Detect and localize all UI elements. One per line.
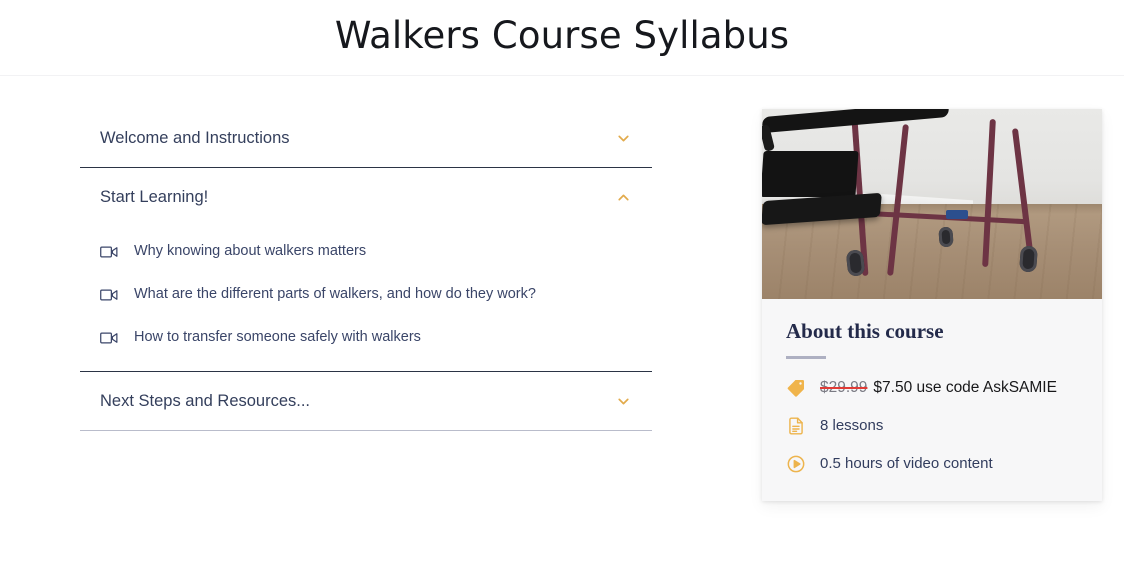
course-video-hours-row: 0.5 hours of video content bbox=[786, 453, 1078, 475]
accordion-header-next-steps[interactable]: Next Steps and Resources... bbox=[80, 372, 652, 430]
page-body: Welcome and Instructions Start Learning! bbox=[0, 76, 1124, 501]
card-heading: About this course bbox=[786, 321, 1078, 342]
list-item[interactable]: Why knowing about walkers matters bbox=[80, 230, 652, 273]
course-card-column: About this course $29.99$7.50 use code A… bbox=[762, 109, 1102, 501]
course-thumbnail-image bbox=[762, 109, 1102, 299]
course-card: About this course $29.99$7.50 use code A… bbox=[762, 109, 1102, 501]
document-icon bbox=[786, 416, 820, 436]
accordion-section-welcome: Welcome and Instructions bbox=[80, 109, 652, 168]
accordion-divider bbox=[80, 430, 652, 431]
heading-accent-rule bbox=[786, 356, 826, 359]
accordion-panel-start-learning: Why knowing about walkers matters What a… bbox=[80, 226, 652, 371]
lesson-label: What are the different parts of walkers,… bbox=[134, 287, 536, 302]
course-card-body: About this course $29.99$7.50 use code A… bbox=[762, 299, 1102, 501]
chevron-down-icon[interactable] bbox=[615, 393, 632, 410]
accordion-title: Welcome and Instructions bbox=[100, 130, 290, 147]
accordion-section-next-steps: Next Steps and Resources... bbox=[80, 372, 652, 431]
course-price-row: $29.99$7.50 use code AskSAMIE bbox=[786, 377, 1078, 399]
page-header: Walkers Course Syllabus bbox=[0, 0, 1124, 76]
accordion-title: Start Learning! bbox=[100, 189, 208, 206]
lessons-count: 8 lessons bbox=[820, 417, 883, 435]
video-camera-icon bbox=[100, 331, 134, 345]
syllabus-column: Welcome and Instructions Start Learning! bbox=[80, 109, 735, 431]
original-price: $29.99 bbox=[820, 379, 867, 396]
discounted-price: $7.50 use code AskSAMIE bbox=[873, 379, 1057, 396]
accordion-header-welcome[interactable]: Welcome and Instructions bbox=[80, 109, 652, 167]
video-camera-icon bbox=[100, 288, 134, 302]
course-price: $29.99$7.50 use code AskSAMIE bbox=[820, 379, 1057, 398]
price-tag-icon bbox=[786, 378, 820, 398]
accordion-section-start-learning: Start Learning! bbox=[80, 168, 652, 372]
lesson-label: How to transfer someone safely with walk… bbox=[134, 330, 421, 345]
video-camera-icon bbox=[100, 245, 134, 259]
chevron-up-icon[interactable] bbox=[615, 189, 632, 206]
list-item[interactable]: What are the different parts of walkers,… bbox=[80, 273, 652, 316]
lesson-label: Why knowing about walkers matters bbox=[134, 244, 366, 259]
syllabus-accordion: Welcome and Instructions Start Learning! bbox=[80, 109, 652, 431]
play-circle-icon bbox=[786, 454, 820, 474]
chevron-down-icon[interactable] bbox=[615, 130, 632, 147]
video-hours: 0.5 hours of video content bbox=[820, 455, 993, 473]
course-lessons-row: 8 lessons bbox=[786, 415, 1078, 437]
page-title: Walkers Course Syllabus bbox=[335, 17, 789, 58]
accordion-title: Next Steps and Resources... bbox=[100, 393, 310, 410]
accordion-header-start-learning[interactable]: Start Learning! bbox=[80, 168, 652, 226]
list-item[interactable]: How to transfer someone safely with walk… bbox=[80, 316, 652, 359]
